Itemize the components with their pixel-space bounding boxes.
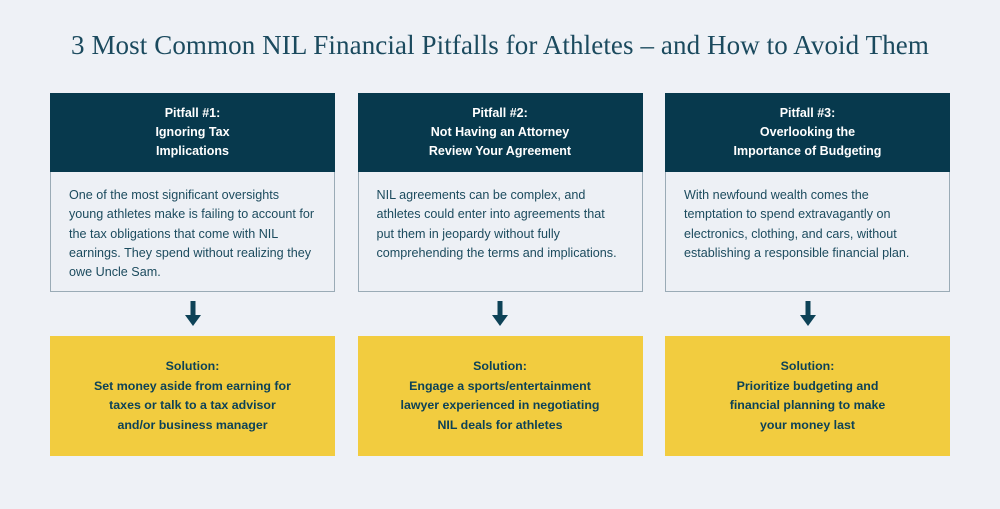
solution-box-1: Solution: Set money aside from earning f… <box>50 336 335 456</box>
solution-1-line-4: and/or business manager <box>62 416 323 436</box>
pitfall-column-1: Pitfall #1: Ignoring Tax Implications On… <box>50 93 335 456</box>
solution-box-3: Solution: Prioritize budgeting and finan… <box>665 336 950 456</box>
pitfall-body-2: NIL agreements can be complex, and athle… <box>358 172 643 292</box>
pitfall-header-3-line-3: Importance of Budgeting <box>675 142 940 161</box>
pitfall-header-1-line-3: Implications <box>60 142 325 161</box>
solution-box-2: Solution: Engage a sports/entertainment … <box>358 336 643 456</box>
pitfall-body-1: One of the most significant oversights y… <box>50 172 335 292</box>
down-arrow-icon <box>184 301 202 327</box>
solution-3-line-1: Solution: <box>677 357 938 377</box>
pitfall-body-3: With newfound wealth comes the temptatio… <box>665 172 950 292</box>
arrow-container-3 <box>665 292 950 336</box>
solution-2-line-4: NIL deals for athletes <box>370 416 631 436</box>
arrow-container-2 <box>358 292 643 336</box>
arrow-container-1 <box>50 292 335 336</box>
pitfall-header-1-line-1: Pitfall #1: <box>60 104 325 123</box>
solution-2-line-1: Solution: <box>370 357 631 377</box>
pitfall-columns: Pitfall #1: Ignoring Tax Implications On… <box>50 93 950 456</box>
pitfall-header-2-line-3: Review Your Agreement <box>368 142 633 161</box>
solution-3-line-2: Prioritize budgeting and <box>677 377 938 397</box>
down-arrow-icon <box>491 301 509 327</box>
pitfall-column-3: Pitfall #3: Overlooking the Importance o… <box>665 93 950 456</box>
solution-1-line-3: taxes or talk to a tax advisor <box>62 396 323 416</box>
solution-2-line-3: lawyer experienced in negotiating <box>370 396 631 416</box>
solution-3-line-3: financial planning to make <box>677 396 938 416</box>
solution-3-line-4: your money last <box>677 416 938 436</box>
solution-2-line-2: Engage a sports/entertainment <box>370 377 631 397</box>
pitfall-header-3: Pitfall #3: Overlooking the Importance o… <box>665 93 950 172</box>
pitfall-header-2-line-1: Pitfall #2: <box>368 104 633 123</box>
infographic-root: 3 Most Common NIL Financial Pitfalls for… <box>0 0 1000 509</box>
page-title: 3 Most Common NIL Financial Pitfalls for… <box>0 28 1000 62</box>
pitfall-header-3-line-2: Overlooking the <box>675 123 940 142</box>
solution-1-line-1: Solution: <box>62 357 323 377</box>
pitfall-header-1: Pitfall #1: Ignoring Tax Implications <box>50 93 335 172</box>
solution-1-line-2: Set money aside from earning for <box>62 377 323 397</box>
pitfall-header-2: Pitfall #2: Not Having an Attorney Revie… <box>358 93 643 172</box>
pitfall-header-3-line-1: Pitfall #3: <box>675 104 940 123</box>
pitfall-column-2: Pitfall #2: Not Having an Attorney Revie… <box>358 93 643 456</box>
pitfall-header-2-line-2: Not Having an Attorney <box>368 123 633 142</box>
pitfall-header-1-line-2: Ignoring Tax <box>60 123 325 142</box>
down-arrow-icon <box>799 301 817 327</box>
